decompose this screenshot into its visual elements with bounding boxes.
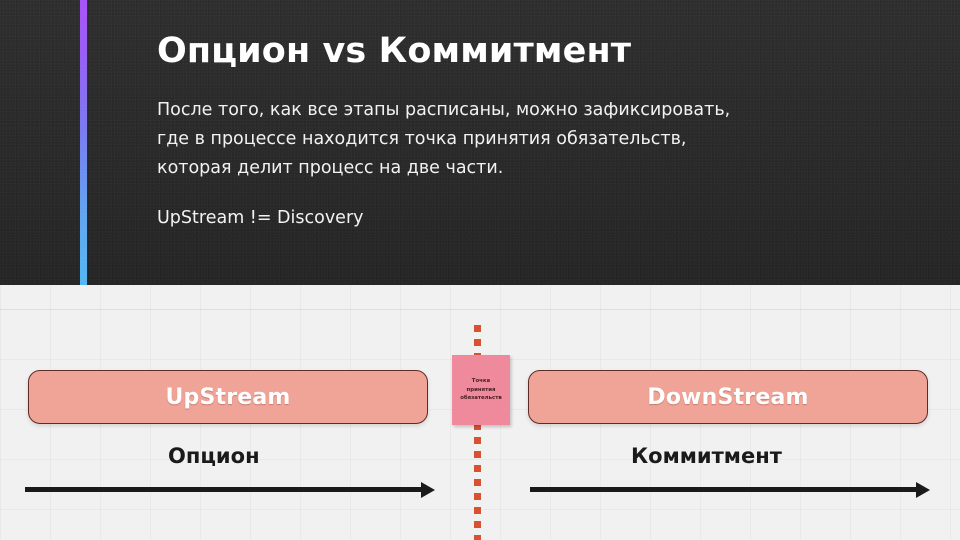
commitment-point-sticky-note[interactable]: Точка принятия обязательств [452,355,510,425]
commitment-phase-label: Коммитмент [631,444,782,468]
commitment-arrow [530,481,930,499]
diagram-area: UpStream DownStream Точка принятия обяза… [0,285,960,540]
downstream-box-label: DownStream [647,385,808,410]
commitment-arrow-shaft [530,487,917,492]
option-arrow-shaft [25,487,422,492]
slide-header: Опцион vs Коммитмент После того, как все… [0,0,960,285]
sticky-note-line-3: обязательств [460,394,502,403]
arrow-head-icon [916,482,930,498]
background-grid-horizontal-line [0,309,960,310]
sticky-note-line-1: Точка [460,377,502,386]
accent-gradient-bar [80,0,87,285]
sticky-note-text: Точка принятия обязательств [458,377,504,403]
page-title: Опцион vs Коммитмент [157,32,631,71]
downstream-box[interactable]: DownStream [528,370,928,424]
arrow-head-icon [421,482,435,498]
option-arrow [25,481,435,499]
upstream-box-label: UpStream [165,385,290,410]
body-line-3: которая делит процесс на две части. [157,154,730,183]
slide-canvas: Опцион vs Коммитмент После того, как все… [0,0,960,540]
body-paragraph: После того, как все этапы расписаны, мож… [157,96,730,183]
sticky-note-line-2: принятия [460,386,502,395]
body-line-2: где в процессе находится точка принятия … [157,125,730,154]
body-line-1: После того, как все этапы расписаны, мож… [157,96,730,125]
sub-note-text: UpStream != Discovery [157,204,364,233]
option-phase-label: Опцион [168,444,260,468]
upstream-box[interactable]: UpStream [28,370,428,424]
